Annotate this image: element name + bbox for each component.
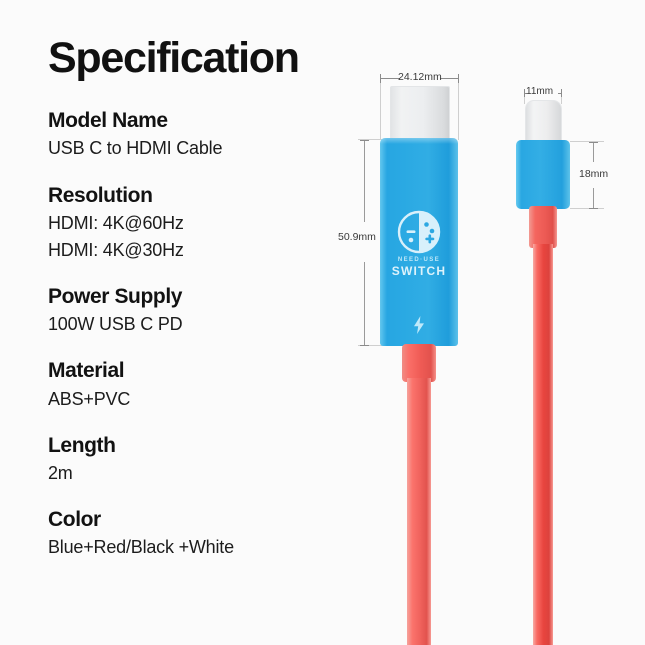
page-title: Specification: [48, 36, 348, 81]
usbc-cable: [533, 244, 553, 645]
spec-value-length: 2m: [48, 460, 348, 486]
spec-label-material: Material: [48, 357, 348, 384]
hdmi-height-dimension-line-bottom: [364, 262, 365, 345]
spec-item-material: Material ABS+PVC: [48, 357, 348, 411]
product-specification-image: Specification Model Name USB C to HDMI C…: [0, 0, 645, 645]
usbc-plug-housing: [516, 140, 570, 209]
hdmi-width-extension-right: [458, 74, 459, 140]
usbc-width-tick-right: [561, 89, 562, 97]
hdmi-branding-top: NEED·USE: [392, 257, 447, 263]
usbc-cable-strain-relief: [529, 206, 557, 248]
spec-item-length: Length 2m: [48, 432, 348, 486]
spec-label-model-name: Model Name: [48, 107, 348, 134]
spec-item-color: Color Blue+Red/Black +White: [48, 506, 348, 560]
hdmi-width-extension-left: [380, 74, 381, 140]
spec-label-length: Length: [48, 432, 348, 459]
spec-value-resolution-1: HDMI: 4K@60Hz: [48, 210, 348, 236]
specification-panel: Specification Model Name USB C to HDMI C…: [48, 36, 348, 581]
spec-value-material: ABS+PVC: [48, 386, 348, 412]
spec-item-power-supply: Power Supply 100W USB C PD: [48, 283, 348, 337]
spec-value-power-supply: 100W USB C PD: [48, 311, 348, 337]
switch-logo-icon: [397, 210, 441, 254]
lightning-bolt-icon: [412, 316, 426, 334]
usbc-height-tick-top: [589, 142, 598, 143]
hdmi-width-dimension-line-left: [380, 78, 400, 79]
spec-label-power-supply: Power Supply: [48, 283, 348, 310]
usbc-height-label: 18mm: [579, 168, 608, 180]
spec-label-color: Color: [48, 506, 348, 533]
hdmi-width-tick-right: [458, 74, 459, 83]
product-photo: 24.12mm 11mm 50.9mm 18mm: [320, 0, 645, 645]
usbc-width-label: 11mm: [526, 86, 553, 97]
hdmi-height-tick-top: [360, 140, 369, 141]
spec-value-color: Blue+Red/Black +White: [48, 534, 348, 560]
hdmi-height-dimension-line-top: [364, 140, 365, 222]
hdmi-height-label: 50.9mm: [338, 231, 376, 243]
spec-item-resolution: Resolution HDMI: 4K@60Hz HDMI: 4K@30Hz: [48, 182, 348, 263]
usbc-height-dimension-line-bottom: [593, 188, 594, 208]
hdmi-height-tick-bottom: [360, 345, 369, 346]
hdmi-width-tick-left: [380, 74, 381, 83]
hdmi-plug-metal-shell: [390, 86, 450, 142]
hdmi-width-label: 24.12mm: [398, 71, 442, 83]
hdmi-width-dimension-line-right: [440, 78, 458, 79]
usbc-plug-metal-shell: [525, 100, 562, 144]
usbc-height-tick-bottom: [589, 208, 598, 209]
hdmi-branding-text: NEED·USE SWITCH: [392, 257, 447, 277]
hdmi-cable-strain-relief: [402, 344, 436, 382]
usbc-height-extension-bottom: [570, 208, 604, 209]
usbc-height-dimension-line-top: [593, 142, 594, 162]
hdmi-cable: [407, 378, 431, 645]
hdmi-branding-bottom: SWITCH: [392, 265, 447, 277]
usbc-height-extension-top: [570, 141, 604, 142]
spec-value-resolution-2: HDMI: 4K@30Hz: [48, 237, 348, 263]
spec-value-model-name: USB C to HDMI Cable: [48, 135, 348, 161]
spec-label-resolution: Resolution: [48, 182, 348, 209]
hdmi-plug-housing: NEED·USE SWITCH: [380, 138, 458, 346]
usbc-width-tick-left: [524, 89, 525, 97]
spec-item-model-name: Model Name USB C to HDMI Cable: [48, 107, 348, 161]
